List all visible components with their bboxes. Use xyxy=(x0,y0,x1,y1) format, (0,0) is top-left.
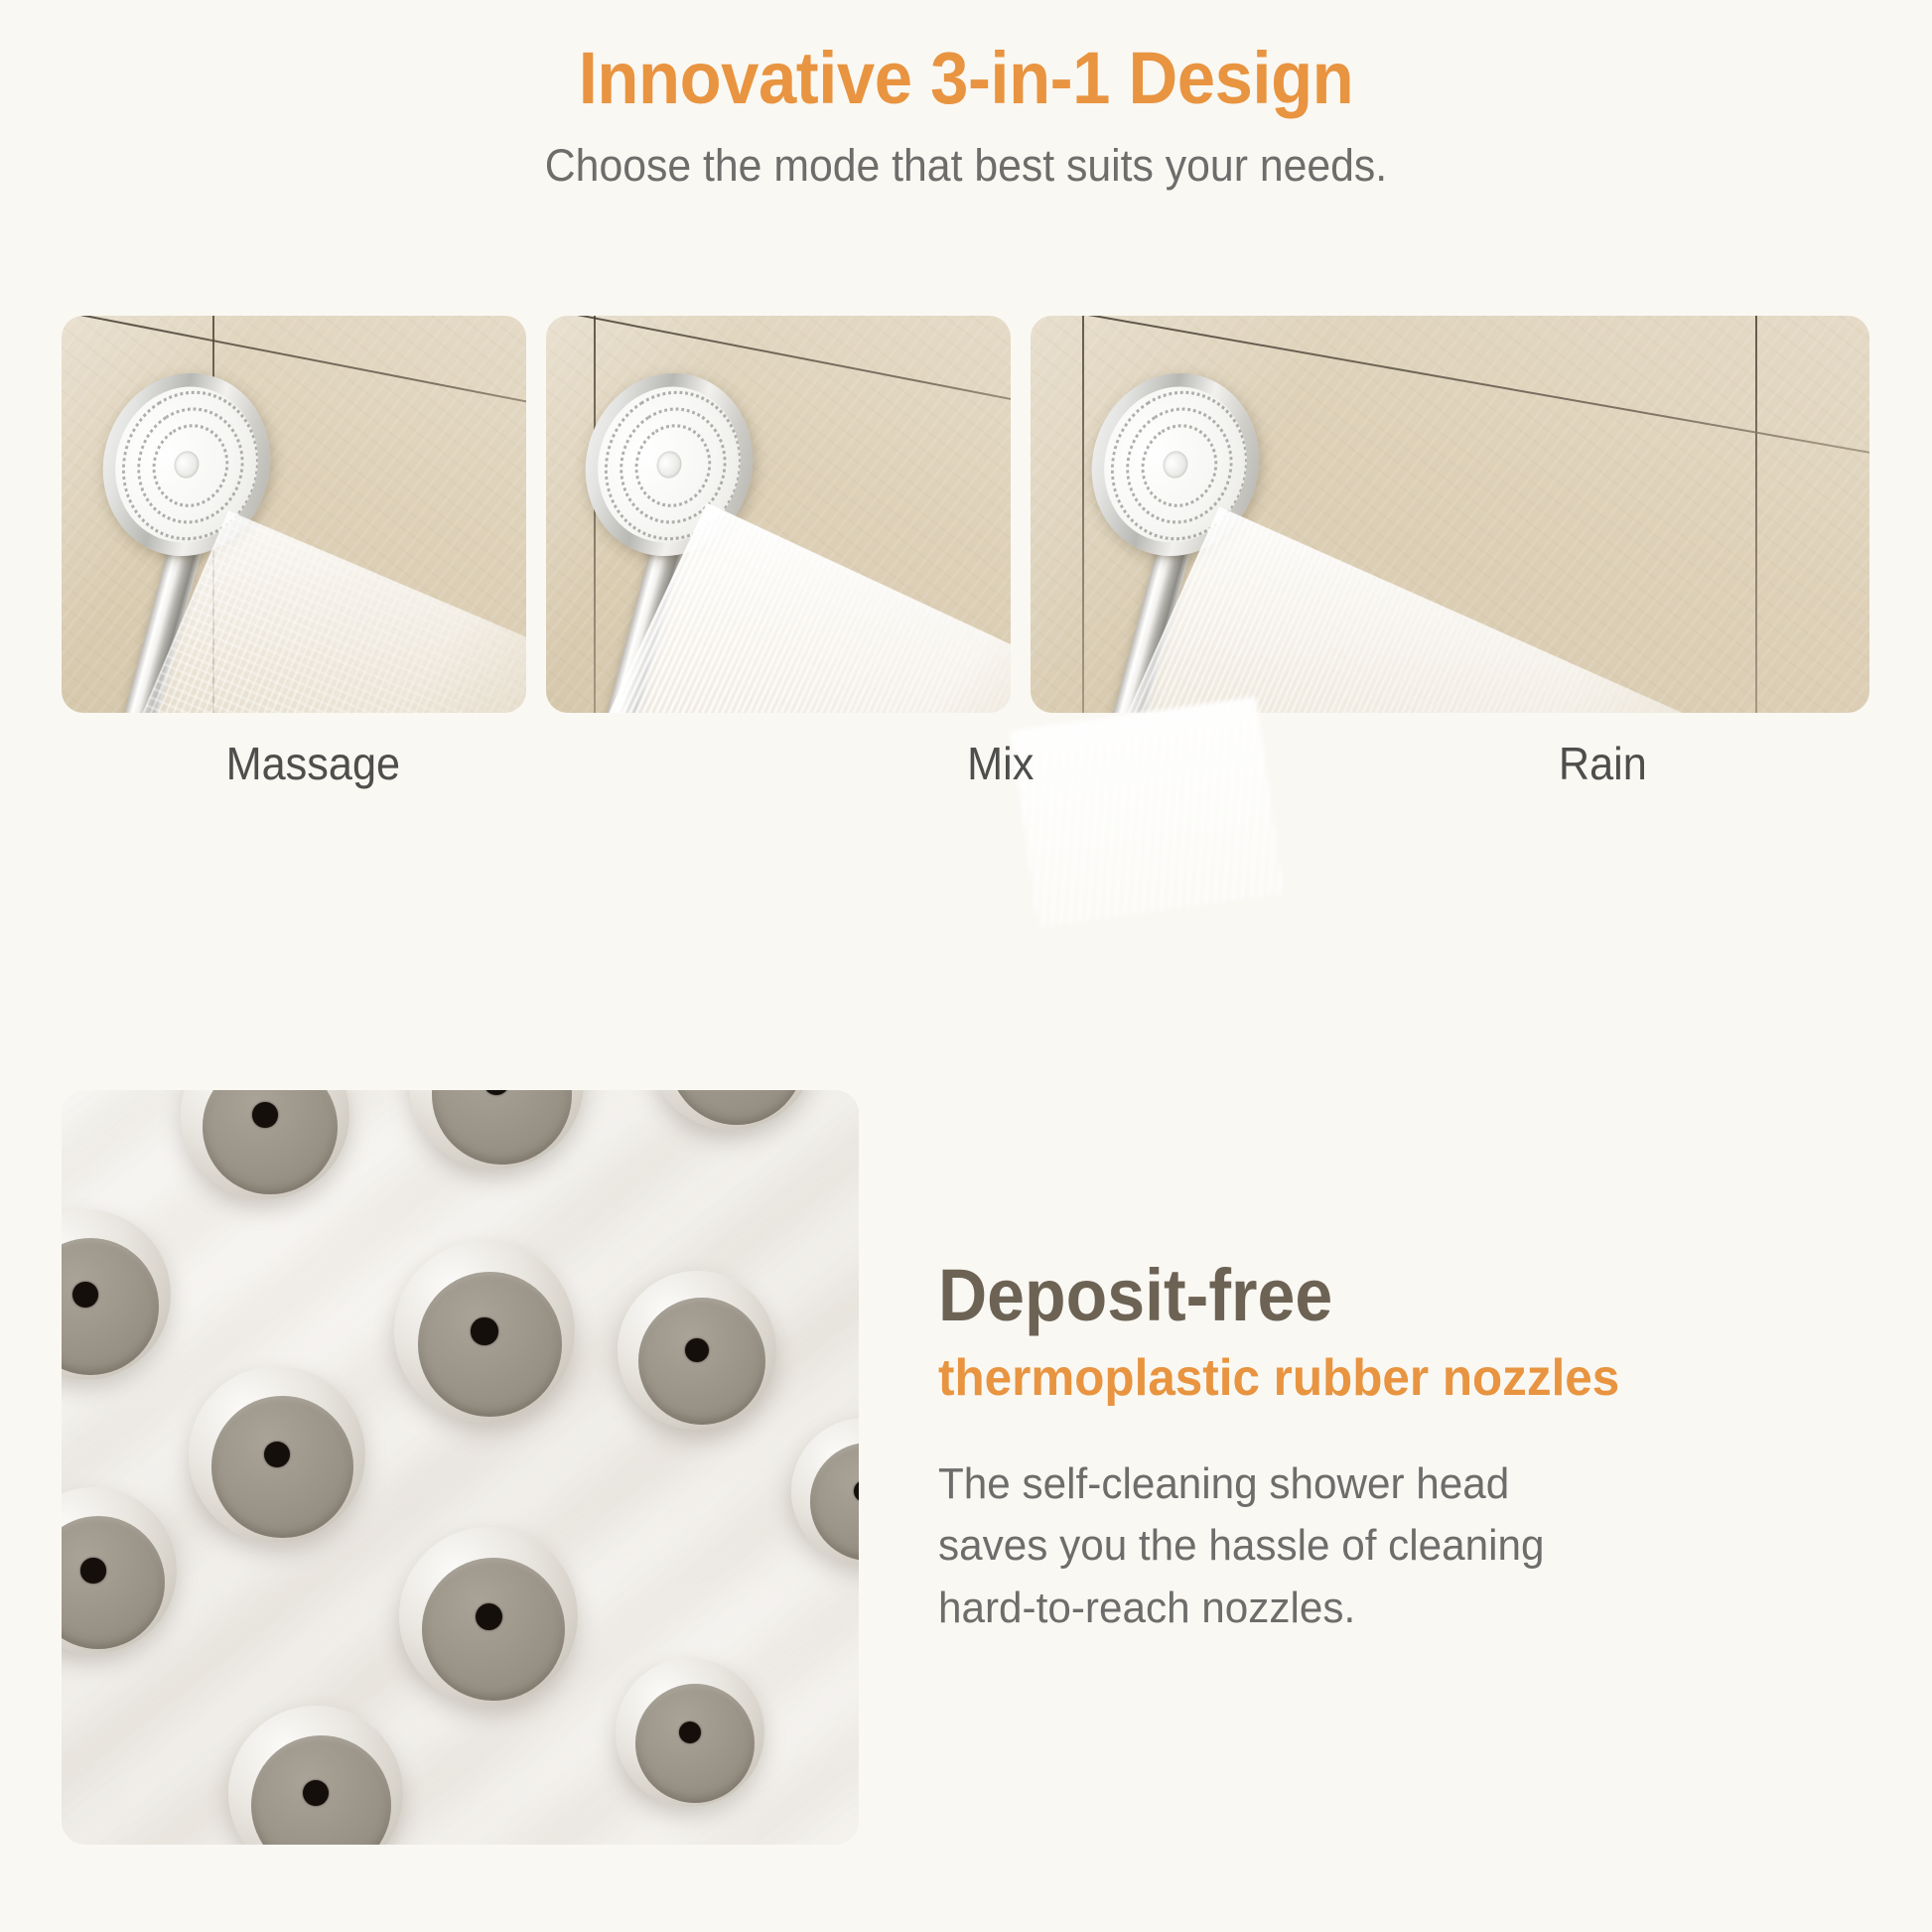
nozzle-bump xyxy=(647,1090,816,1130)
feature-body-line: hard-to-reach nozzles. xyxy=(938,1578,1834,1639)
mode-card-row xyxy=(62,316,1871,713)
page-subtitle: Choose the mode that best suits your nee… xyxy=(49,143,1884,188)
water-spray-overflow xyxy=(1010,697,1283,928)
feature-text-block: Deposit-free thermoplastic rubber nozzle… xyxy=(938,1259,1871,1639)
mode-label-mix: Mix xyxy=(967,737,1034,790)
feature-body: The self-cleaning shower head saves you … xyxy=(938,1453,1834,1639)
grout-line-vertical xyxy=(1082,316,1084,713)
grout-line-vertical-right xyxy=(1755,316,1757,713)
nozzle-bump xyxy=(399,1527,578,1706)
feature-body-line: The self-cleaning shower head xyxy=(938,1453,1834,1515)
grout-line-vertical xyxy=(594,316,596,713)
mode-card-rain[interactable] xyxy=(1031,316,1869,713)
mode-label-rain: Rain xyxy=(1559,737,1647,790)
mode-label-row: Massage Mix Rain xyxy=(62,737,1871,806)
nozzle-bump xyxy=(616,1658,764,1807)
mode-card-mix[interactable] xyxy=(546,316,1011,713)
mode-label-massage: Massage xyxy=(226,737,400,790)
feature-subtitle: thermoplastic rubber nozzles xyxy=(938,1352,1825,1404)
nozzle-bump xyxy=(409,1090,584,1170)
nozzle-bump xyxy=(228,1706,403,1845)
nozzle-bump xyxy=(394,1241,575,1422)
feature-title: Deposit-free xyxy=(938,1259,1797,1332)
nozzle-bump xyxy=(618,1271,776,1430)
nozzle-bump xyxy=(791,1418,859,1565)
feature-body-line: saves you the hassle of cleaning xyxy=(938,1515,1834,1577)
nozzle-bump xyxy=(62,1487,177,1654)
header-block: Innovative 3-in-1 Design Choose the mode… xyxy=(0,0,1932,188)
mode-card-massage[interactable] xyxy=(62,316,526,713)
nozzle-closeup-image xyxy=(62,1090,859,1845)
nozzle-bump xyxy=(189,1366,365,1543)
nozzle-bump xyxy=(62,1209,171,1380)
nozzle-bump xyxy=(181,1090,349,1199)
page-title: Innovative 3-in-1 Design xyxy=(68,42,1864,115)
